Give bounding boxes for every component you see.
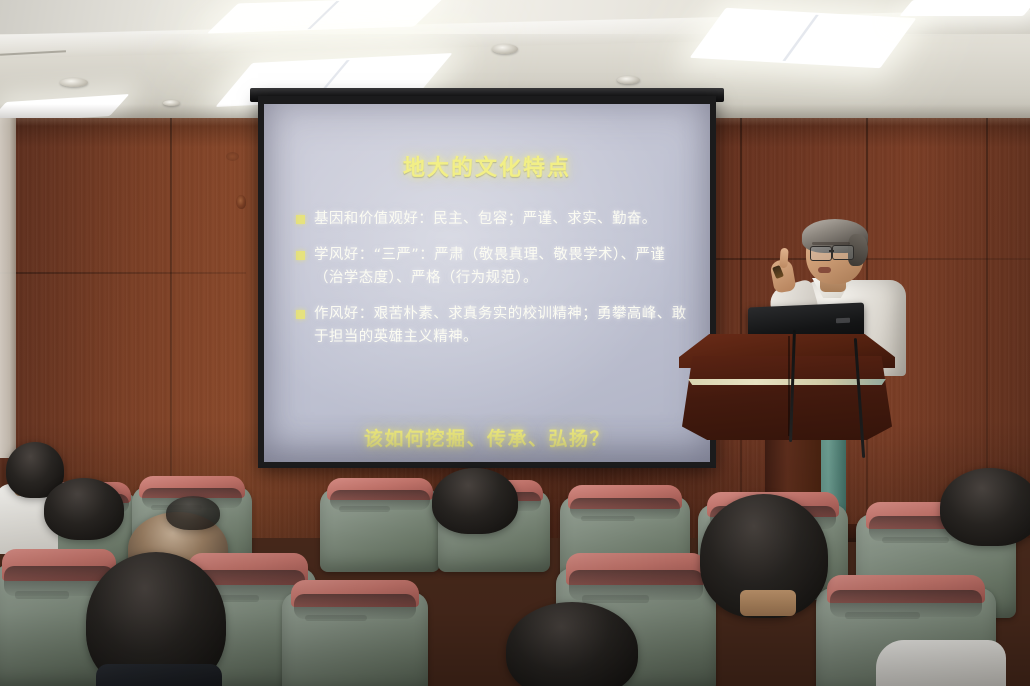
sprinkler-icon: [60, 78, 88, 87]
audience-member-head: [940, 468, 1030, 546]
audience-member-shirt: [96, 664, 222, 686]
bullet-text: 学风好：“三严”：严肃（敬畏真理、敬畏学术）、严谨（治学态度）、严格（行为规范）…: [314, 244, 688, 290]
audience-member-shirt: [876, 640, 1006, 686]
audience-member-head: [166, 496, 220, 530]
square-bullet-icon: [296, 251, 305, 260]
seat: [282, 592, 428, 686]
audience-member-head: [44, 478, 124, 540]
seat: [320, 488, 440, 572]
slide-title: 地大的文化特点: [264, 150, 710, 182]
wall-mark: [226, 152, 239, 161]
bullet-text: 作风好：艰苦朴素、求真务实的校训精神；勇攀高峰、敢于担当的英雄主义精神。: [314, 303, 688, 349]
glasses-icon: [810, 246, 832, 261]
square-bullet-icon: [296, 215, 305, 224]
list-item: 作风好：艰苦朴素、求真务实的校训精神；勇攀高峰、敢于担当的英雄主义精神。: [296, 303, 688, 349]
ceiling-light-icon: [690, 8, 917, 68]
slide-bullet-list: 基因和价值观好：民主、包容；严谨、求实、勤奋。 学风好：“三严”：严肃（敬畏真理…: [296, 208, 688, 362]
laptop-logo: [836, 318, 850, 324]
bullet-text: 基因和价值观好：民主、包容；严谨、求实、勤奋。: [314, 208, 657, 231]
audience-member-neck: [740, 590, 796, 616]
presenter-finger: [779, 248, 788, 269]
glasses-icon: [832, 245, 854, 260]
presenter-mouth: [818, 267, 831, 273]
wall-knot: [236, 195, 246, 209]
square-bullet-icon: [296, 310, 305, 319]
list-item: 基因和价值观好：民主、包容；严谨、求实、勤奋。: [296, 208, 688, 231]
audience-member-head: [432, 468, 518, 534]
projection-screen: 地大的文化特点 基因和价值观好：民主、包容；严谨、求实、勤奋。 学风好：“三严”…: [264, 104, 710, 462]
audience-seating: [0, 440, 1030, 686]
lecture-hall-photo: 地大的文化特点 基因和价值观好：民主、包容；严谨、求实、勤奋。 学风好：“三严”…: [0, 0, 1030, 686]
wall-return-column: [0, 118, 16, 458]
sprinkler-icon: [617, 76, 640, 84]
glasses-bridge: [829, 250, 834, 252]
sprinkler-icon: [492, 44, 518, 54]
wall-seam: [0, 272, 246, 274]
list-item: 学风好：“三严”：严肃（敬畏真理、敬畏学术）、严谨（治学态度）、严格（行为规范）…: [296, 244, 688, 290]
ceiling-light-icon: [899, 0, 1030, 16]
